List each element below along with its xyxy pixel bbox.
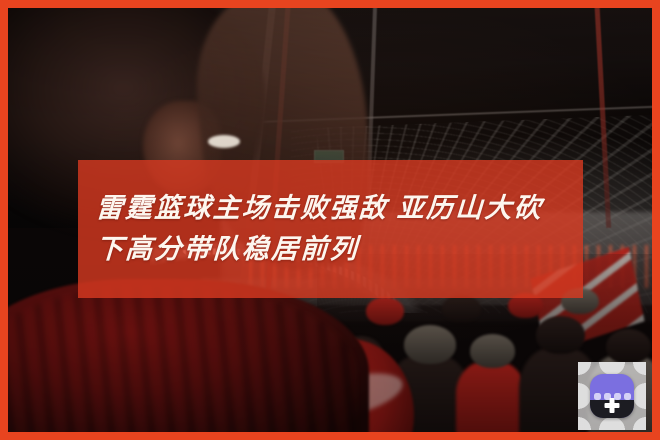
specular-highlight (208, 135, 240, 148)
plus-icon (605, 398, 620, 413)
app-logo-dot (624, 393, 631, 400)
app-watermark[interactable] (578, 362, 646, 430)
crowd-head (606, 329, 651, 365)
crowd-head (536, 316, 585, 353)
crowd-head (366, 297, 404, 325)
crowd-head (470, 334, 515, 368)
headline-banner: 雷霆篮球主场击败强敌 亚历山大砍 下高分带队稳居前列 (78, 160, 583, 298)
crowd-body (456, 361, 526, 432)
headline-line-2: 下高分带队稳居前列 (95, 229, 566, 270)
app-logo-icon (590, 374, 634, 418)
crowd-head (442, 295, 480, 322)
crowd-head (404, 325, 456, 364)
app-logo-dot (594, 393, 601, 400)
photo-card: 雷霆篮球主场击败强敌 亚历山大砍 下高分带队稳居前列 (0, 0, 660, 440)
headline-line-1: 雷霆篮球主场击败强敌 亚历山大砍 (95, 188, 566, 229)
